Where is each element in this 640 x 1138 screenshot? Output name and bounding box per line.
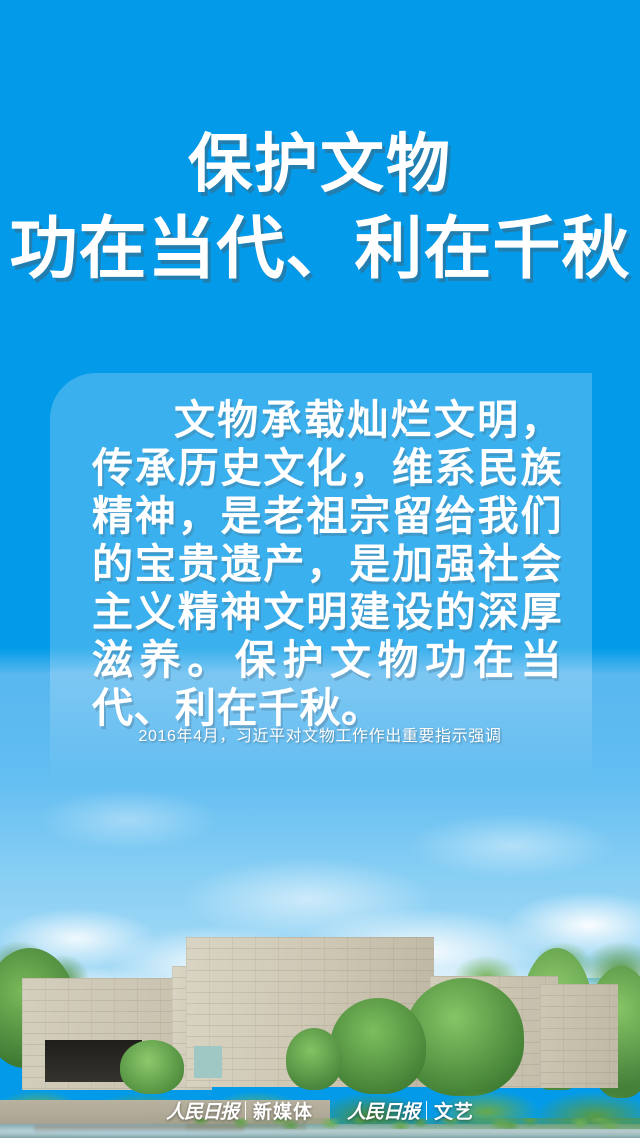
headline-line-2: 功在当代、利在千秋 (0, 215, 640, 284)
lotus-pond (0, 1124, 640, 1138)
logo-rmrb-xinmeiti: 人民日报 新媒体 (166, 1097, 313, 1124)
logo-rmrb-wenyi: 人民日报 文艺 (347, 1097, 474, 1124)
logo-unit-text: 文艺 (434, 1097, 474, 1124)
quote-text: 文物承载灿烂文明，传承历史文化，维系民族精神，是老祖宗留给我们的宝贵遗产，是加强… (92, 396, 562, 732)
logo-brand-text: 人民日报 (347, 1097, 419, 1124)
logo-unit-text: 新媒体 (253, 1097, 313, 1124)
logo-divider (245, 1101, 246, 1120)
logo-divider (426, 1101, 427, 1120)
headline-line-1: 保护文物 (0, 132, 640, 197)
footer-logos: 人民日报 新媒体 人民日报 文艺 (0, 1097, 640, 1124)
poster-root: 保护文物 功在当代、利在千秋 文物承载灿烂文明，传承历史文化，维系民族精神，是老… (0, 0, 640, 1138)
page-title: 保护文物 功在当代、利在千秋 (0, 132, 640, 285)
quote-attribution: 2016年4月，习近平对文物工作作出重要指示强调 (0, 722, 640, 746)
logo-brand-text: 人民日报 (166, 1097, 238, 1124)
quote-block: 文物承载灿烂文明，传承历史文化，维系民族精神，是老祖宗留给我们的宝贵遗产，是加强… (92, 396, 562, 732)
